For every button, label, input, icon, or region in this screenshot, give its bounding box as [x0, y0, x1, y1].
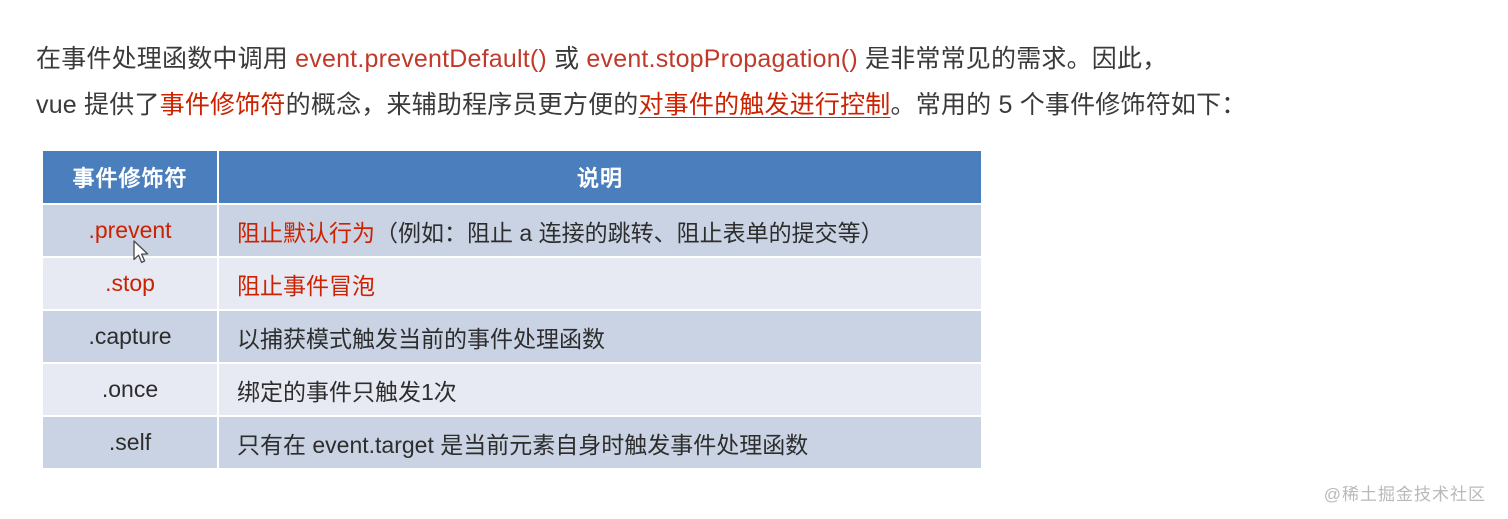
desc-red-part: 阻止事件冒泡: [237, 273, 375, 299]
intro-line-1: 在事件处理函数中调用 event.preventDefault() 或 even…: [36, 36, 1456, 82]
intro-line-2: vue 提供了事件修饰符的概念，来辅助程序员更方便的对事件的触发进行控制。常用的…: [36, 82, 1456, 128]
cell-desc-prevent: 阻止默认行为（例如：阻止 a 连接的跳转、阻止表单的提交等）: [219, 205, 981, 256]
cell-modifier-prevent: .prevent: [43, 205, 217, 256]
table-row: .once 绑定的事件只触发1次: [43, 364, 981, 415]
cell-desc-capture: 以捕获模式触发当前的事件处理函数: [219, 311, 981, 362]
desc-rest-part: 只有在 event.target 是当前元素自身时触发事件处理函数: [237, 432, 808, 458]
intro-text-1: 在事件处理函数中调用: [36, 45, 295, 73]
table-row: .capture 以捕获模式触发当前的事件处理函数: [43, 311, 981, 362]
desc-red-part: 阻止默认行为: [237, 220, 375, 246]
desc-rest-part: （例如：阻止 a 连接的跳转、阻止表单的提交等）: [375, 220, 884, 246]
intro-text-3: 是非常常见的需求。因此，: [858, 45, 1168, 73]
intro-text-4: vue 提供了: [36, 91, 160, 119]
intro-text-2: 或: [547, 45, 587, 73]
event-modifiers-table: 事件修饰符 说明 .prevent 阻止默认行为（例如：阻止 a 连接的跳转、阻…: [41, 149, 983, 470]
cell-modifier-stop: .stop: [43, 258, 217, 309]
table-row: .prevent 阻止默认行为（例如：阻止 a 连接的跳转、阻止表单的提交等）: [43, 205, 981, 256]
slide-page: 在事件处理函数中调用 event.preventDefault() 或 even…: [0, 0, 1508, 519]
table-header-row: 事件修饰符 说明: [43, 151, 981, 203]
column-header-description: 说明: [219, 151, 981, 203]
intro-text-6: 。常用的 5 个事件修饰符如下：: [891, 91, 1247, 119]
highlight-event-modifier: 事件修饰符: [160, 91, 286, 119]
desc-rest-part: 绑定的事件只触发1次: [237, 379, 457, 405]
intro-paragraph: 在事件处理函数中调用 event.preventDefault() 或 even…: [36, 36, 1456, 128]
code-prevent-default: event.preventDefault(): [295, 45, 547, 73]
cell-modifier-self: .self: [43, 417, 217, 468]
cell-desc-once: 绑定的事件只触发1次: [219, 364, 981, 415]
code-stop-propagation: event.stopPropagation(): [586, 45, 857, 73]
table-row: .self 只有在 event.target 是当前元素自身时触发事件处理函数: [43, 417, 981, 468]
highlight-event-control: 对事件的触发进行控制: [638, 91, 890, 119]
watermark: @稀土掘金技术社区: [1324, 480, 1486, 505]
column-header-modifier: 事件修饰符: [43, 151, 217, 203]
cell-modifier-capture: .capture: [43, 311, 217, 362]
intro-text-5: 的概念，来辅助程序员更方便的: [286, 91, 639, 119]
desc-rest-part: 以捕获模式触发当前的事件处理函数: [237, 326, 605, 352]
cell-desc-stop: 阻止事件冒泡: [219, 258, 981, 309]
table-body: .prevent 阻止默认行为（例如：阻止 a 连接的跳转、阻止表单的提交等） …: [43, 205, 981, 468]
event-modifiers-table-wrapper: 事件修饰符 说明 .prevent 阻止默认行为（例如：阻止 a 连接的跳转、阻…: [41, 149, 981, 470]
table-header: 事件修饰符 说明: [43, 151, 981, 203]
cell-modifier-once: .once: [43, 364, 217, 415]
cell-desc-self: 只有在 event.target 是当前元素自身时触发事件处理函数: [219, 417, 981, 468]
table-row: .stop 阻止事件冒泡: [43, 258, 981, 309]
